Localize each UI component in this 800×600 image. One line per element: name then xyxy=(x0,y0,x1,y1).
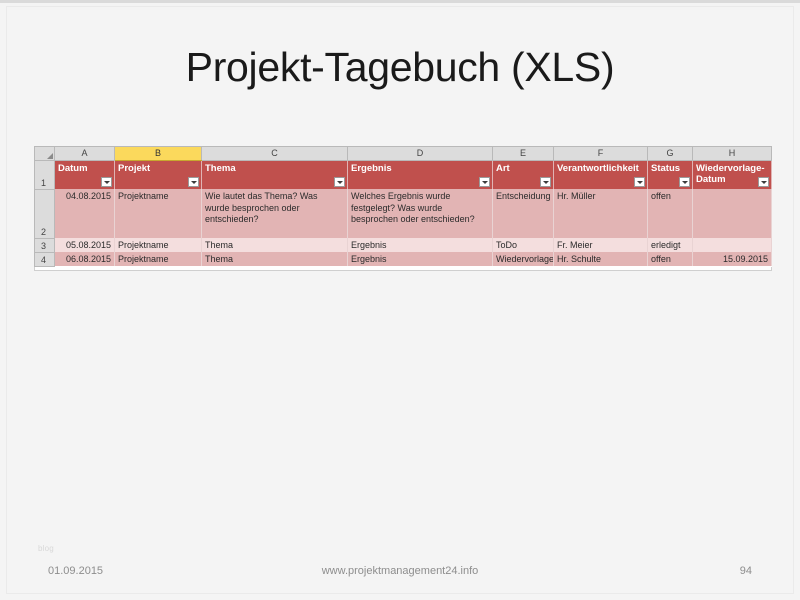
cell-thema[interactable]: Thema xyxy=(202,238,348,252)
cell-verantwortlichkeit[interactable]: Hr. Müller xyxy=(554,189,648,238)
row-number-3[interactable]: 3 xyxy=(35,238,55,252)
cell-datum[interactable]: 05.08.2015 xyxy=(55,238,115,252)
header-label-wiedervorlage-datum: Wiedervorlage-Datum xyxy=(696,163,765,185)
column-letter-row: A B C D E F G H xyxy=(35,147,772,161)
header-label-projekt: Projekt xyxy=(118,163,150,174)
cell-status[interactable]: erledigt xyxy=(648,238,693,252)
cell-ergebnis[interactable]: Welches Ergebnis wurde festgelegt? Was w… xyxy=(348,189,493,238)
header-cell-ergebnis[interactable]: Ergebnis xyxy=(348,161,493,190)
cell-ergebnis[interactable]: Ergebnis xyxy=(348,252,493,266)
column-letter-e[interactable]: E xyxy=(493,147,554,161)
cell-art[interactable]: Wiedervorlage xyxy=(493,252,554,266)
header-cell-verantwortlichkeit[interactable]: Verantwortlichkeit xyxy=(554,161,648,190)
page-title: Projekt-Tagebuch (XLS) xyxy=(0,44,800,91)
cell-verantwortlichkeit[interactable]: Fr. Meier xyxy=(554,238,648,252)
table-row: 2 04.08.2015 Projektname Wie lautet das … xyxy=(35,189,772,238)
header-label-status: Status xyxy=(651,163,680,174)
header-cell-art[interactable]: Art xyxy=(493,161,554,190)
slide-top-rule xyxy=(0,0,800,3)
filter-dropdown-icon[interactable] xyxy=(101,177,112,187)
column-letter-g[interactable]: G xyxy=(648,147,693,161)
spreadsheet-screenshot: A B C D E F G H 1 Datum Projekt xyxy=(34,146,772,271)
cell-art[interactable]: Entscheidung xyxy=(493,189,554,238)
column-letter-c[interactable]: C xyxy=(202,147,348,161)
filter-dropdown-icon[interactable] xyxy=(758,177,769,187)
cell-status[interactable]: offen xyxy=(648,189,693,238)
cell-verantwortlichkeit[interactable]: Hr. Schulte xyxy=(554,252,648,266)
cell-wiedervorlage-datum[interactable] xyxy=(693,189,772,238)
column-letter-a[interactable]: A xyxy=(55,147,115,161)
cell-ergebnis[interactable]: Ergebnis xyxy=(348,238,493,252)
cell-thema[interactable]: Wie lautet das Thema? Was wurde besproch… xyxy=(202,189,348,238)
cell-projekt[interactable]: Projektname xyxy=(115,238,202,252)
row-number-1[interactable]: 1 xyxy=(35,161,55,190)
blog-watermark: blog xyxy=(38,544,54,553)
cell-wiedervorlage-datum[interactable]: 15.09.2015 xyxy=(693,252,772,266)
slide-footer: 01.09.2015 www.projektmanagement24.info … xyxy=(0,565,800,581)
filter-dropdown-icon[interactable] xyxy=(188,177,199,187)
cell-art[interactable]: ToDo xyxy=(493,238,554,252)
header-cell-thema[interactable]: Thema xyxy=(202,161,348,190)
select-all-triangle-icon xyxy=(47,153,53,159)
slide: Projekt-Tagebuch (XLS) A B C D E xyxy=(0,0,800,600)
select-all-corner[interactable] xyxy=(35,147,55,161)
header-label-thema: Thema xyxy=(205,163,236,174)
filter-dropdown-icon[interactable] xyxy=(479,177,490,187)
filter-dropdown-icon[interactable] xyxy=(679,177,690,187)
cell-datum[interactable]: 04.08.2015 xyxy=(55,189,115,238)
header-label-art: Art xyxy=(496,163,510,174)
header-label-verantwortlichkeit: Verantwortlichkeit xyxy=(557,163,639,174)
footer-url: www.projektmanagement24.info xyxy=(0,565,800,577)
cell-projekt[interactable]: Projektname xyxy=(115,252,202,266)
cell-projekt[interactable]: Projektname xyxy=(115,189,202,238)
cell-datum[interactable]: 06.08.2015 xyxy=(55,252,115,266)
header-label-datum: Datum xyxy=(58,163,88,174)
sheet-bottom-edge xyxy=(34,267,772,271)
column-letter-f[interactable]: F xyxy=(554,147,648,161)
filter-dropdown-icon[interactable] xyxy=(540,177,551,187)
table-row: 4 06.08.2015 Projektname Thema Ergebnis … xyxy=(35,252,772,266)
column-letter-h[interactable]: H xyxy=(693,147,772,161)
header-cell-projekt[interactable]: Projekt xyxy=(115,161,202,190)
cell-status[interactable]: offen xyxy=(648,252,693,266)
cell-wiedervorlage-datum[interactable] xyxy=(693,238,772,252)
header-label-ergebnis: Ergebnis xyxy=(351,163,392,174)
table-row: 3 05.08.2015 Projektname Thema Ergebnis … xyxy=(35,238,772,252)
spreadsheet-table: A B C D E F G H 1 Datum Projekt xyxy=(34,146,772,267)
header-cell-datum[interactable]: Datum xyxy=(55,161,115,190)
column-letter-d[interactable]: D xyxy=(348,147,493,161)
slide-inner-border xyxy=(6,6,794,594)
footer-page-number: 94 xyxy=(740,565,752,577)
row-number-2[interactable]: 2 xyxy=(35,189,55,238)
row-number-4[interactable]: 4 xyxy=(35,252,55,266)
filter-dropdown-icon[interactable] xyxy=(634,177,645,187)
table-header-row: 1 Datum Projekt Thema Ergebnis xyxy=(35,161,772,190)
filter-dropdown-icon[interactable] xyxy=(334,177,345,187)
header-cell-status[interactable]: Status xyxy=(648,161,693,190)
cell-thema[interactable]: Thema xyxy=(202,252,348,266)
column-letter-b[interactable]: B xyxy=(115,147,202,161)
header-cell-wiedervorlage-datum[interactable]: Wiedervorlage-Datum xyxy=(693,161,772,190)
